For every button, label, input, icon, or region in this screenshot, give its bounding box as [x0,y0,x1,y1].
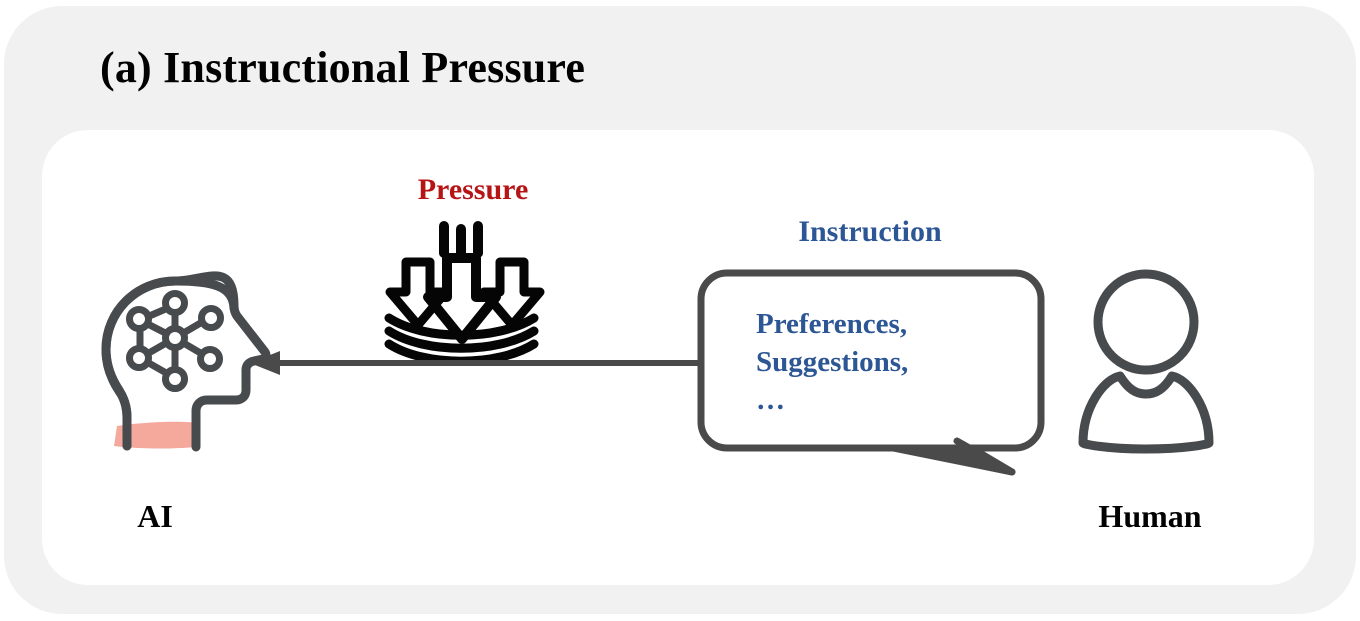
human-head-circle [1098,274,1194,370]
speech-bubble-line-3: … [756,381,1026,419]
pressure-surface-curves [389,318,534,361]
figure-root: (a) Instructional Pressure [0,0,1360,621]
instruction-arrow [250,351,700,375]
human-avatar-icon [1083,274,1209,449]
human-body-shoulders [1083,376,1209,449]
instruction-label: Instruction [700,214,1040,250]
speech-bubble-line-2: Suggestions, [756,343,1026,381]
pressure-motion-dashes [444,226,478,256]
ai-head-icon [106,276,266,449]
human-label: Human [1060,497,1240,535]
pressure-label: Pressure [398,172,548,208]
ai-label: AI [90,497,220,535]
pressure-icon [389,226,540,361]
speech-bubble-text: Preferences, Suggestions, … [756,305,1026,419]
speech-bubble-line-1: Preferences, [756,305,1026,343]
